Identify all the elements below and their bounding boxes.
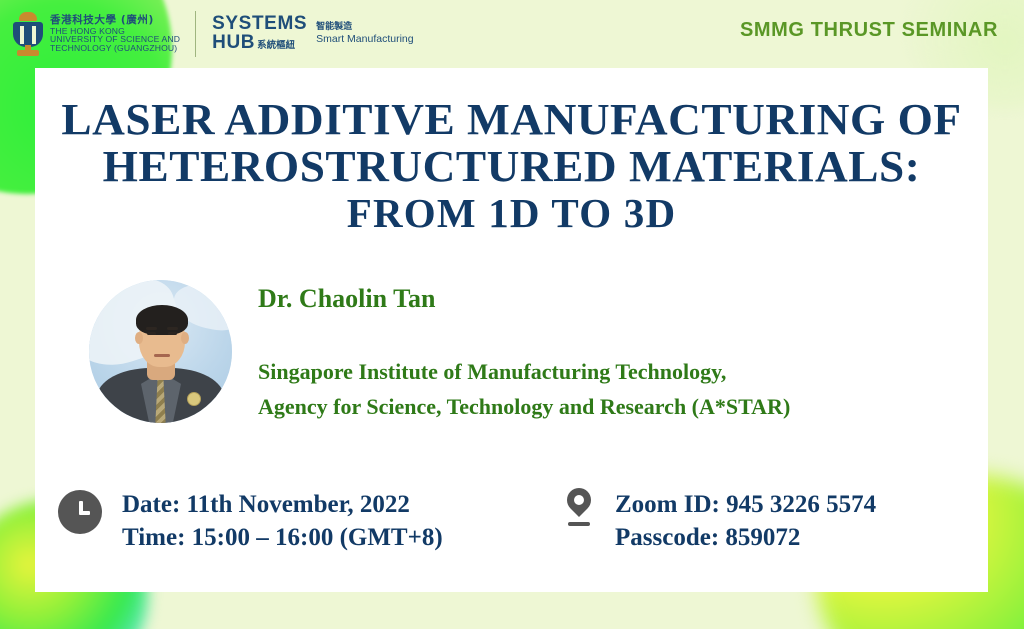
title-line-1: LASER ADDITIVE MANUFACTURING OF [21, 96, 1003, 143]
title-line-2: HETEROSTRUCTURED MATERIALS: [21, 143, 1003, 190]
smart-manufacturing-tagline: 智能製造 Smart Manufacturing [316, 22, 413, 46]
tagline-english: Smart Manufacturing [316, 33, 413, 46]
event-time: Time: 15:00 – 16:00 (GMT+8) [122, 521, 443, 554]
zoom-id: Zoom ID: 945 3226 5574 [615, 488, 876, 521]
affiliation-line-2: Agency for Science, Technology and Resea… [258, 389, 790, 424]
zoom-text: Zoom ID: 945 3226 5574 Passcode: 859072 [615, 488, 876, 554]
event-date: Date: 11th November, 2022 [122, 488, 443, 521]
zoom-passcode: Passcode: 859072 [615, 521, 876, 554]
university-name-en-3: TECHNOLOGY (GUANGZHOU) [50, 44, 180, 53]
university-name-chinese: 香港科技大學 (廣州) [50, 15, 180, 26]
logo-divider [195, 11, 196, 57]
tagline-chinese: 智能製造 [316, 22, 413, 33]
systems-hub-wordmark: SYSTEMS HUB系統樞紐 [212, 15, 307, 52]
poster-header: 香港科技大學 (廣州) THE HONG KONG UNIVERSITY OF … [0, 0, 1024, 68]
datetime-text: Date: 11th November, 2022 Time: 15:00 – … [122, 488, 443, 554]
seminar-series-label: SMMG THRUST SEMINAR [740, 19, 998, 42]
systems-hub-line2-en: HUB [212, 32, 255, 53]
seminar-poster: 香港科技大學 (廣州) THE HONG KONG UNIVERSITY OF … [0, 0, 1024, 629]
logo-group: 香港科技大學 (廣州) THE HONG KONG UNIVERSITY OF … [13, 8, 414, 60]
map-pin-icon [563, 488, 595, 536]
content-card: LASER ADDITIVE MANUFACTURING OF HETEROST… [35, 68, 988, 592]
systems-hub-line2-cn: 系統樞紐 [257, 40, 295, 51]
datetime-block: Date: 11th November, 2022 Time: 15:00 – … [58, 488, 443, 554]
speaker-photo [89, 280, 232, 423]
clock-icon [58, 490, 102, 534]
title-line-3: FROM 1D TO 3D [35, 190, 988, 237]
hkust-gz-logo-icon [13, 11, 43, 57]
page-title: LASER ADDITIVE MANUFACTURING OF HETEROST… [35, 96, 988, 237]
speaker-affiliation: Singapore Institute of Manufacturing Tec… [258, 354, 790, 424]
event-details: Date: 11th November, 2022 Time: 15:00 – … [35, 480, 988, 580]
speaker-name: Dr. Chaolin Tan [258, 284, 436, 314]
university-name: 香港科技大學 (廣州) THE HONG KONG UNIVERSITY OF … [50, 15, 180, 54]
location-block: Zoom ID: 945 3226 5574 Passcode: 859072 [563, 488, 876, 554]
systems-hub-logo: SYSTEMS HUB系統樞紐 智能製造 Smart Manufacturing [212, 15, 413, 52]
affiliation-line-1: Singapore Institute of Manufacturing Tec… [258, 354, 790, 389]
